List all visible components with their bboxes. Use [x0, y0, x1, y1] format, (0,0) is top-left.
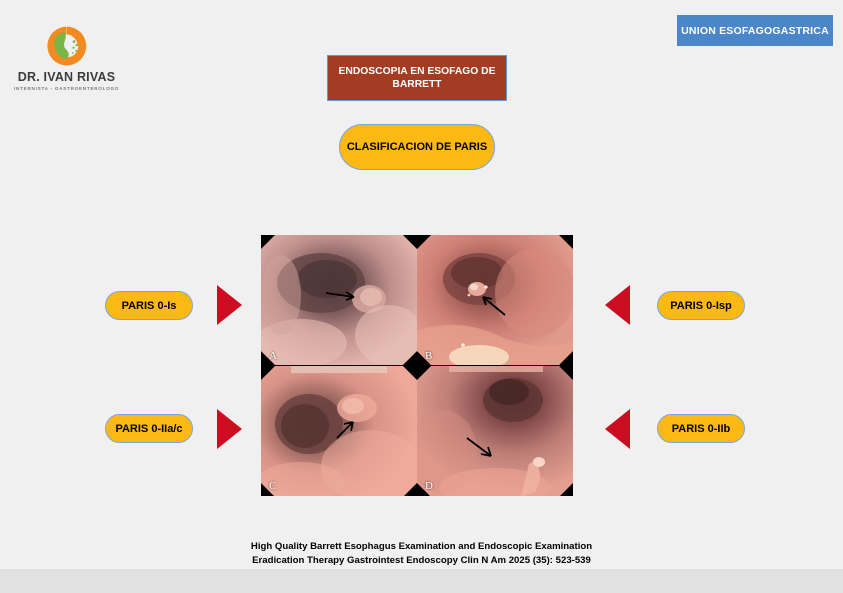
- arrow-right-icon-a: [217, 285, 242, 325]
- arrow-right-icon-c: [217, 409, 242, 449]
- caption-line-2: Eradication Therapy Gastrointest Endosco…: [180, 554, 663, 568]
- panel-letter-c: C: [269, 480, 276, 492]
- page-title: ENDOSCOPIA EN ESOFAGO DE BARRETT: [327, 55, 507, 101]
- paris-label-0-iib: PARIS 0-IIb: [657, 414, 745, 443]
- endoscopy-image-b: [417, 235, 573, 365]
- endoscopy-panel-c: C: [261, 366, 417, 497]
- paris-label-0-iiac: PARIS 0-IIa/c: [105, 414, 193, 443]
- paris-label-0-is: PARIS 0-Is: [105, 291, 193, 320]
- panel-letter-a: A: [269, 350, 277, 362]
- endoscopy-panel-a: A: [261, 235, 417, 366]
- clinic-logo: DR. IVAN RIVAS INTERNISTA - GASTROENTERO…: [14, 24, 119, 96]
- union-esofagogastrica-badge: UNION ESOFAGOGASTRICA: [677, 15, 833, 46]
- paris-label-0-isp: PARIS 0-Isp: [657, 291, 745, 320]
- endoscopy-figure-grid: A: [261, 235, 573, 496]
- panel-letter-d: D: [425, 480, 433, 492]
- clasificacion-de-paris-pill: CLASIFICACION DE PARIS: [339, 124, 495, 170]
- figure-caption: High Quality Barrett Esophagus Examinati…: [180, 540, 663, 568]
- arrow-left-icon-b: [605, 285, 630, 325]
- slide-canvas: DR. IVAN RIVAS INTERNISTA - GASTROENTERO…: [0, 0, 843, 569]
- endoscopy-panel-d: D: [417, 366, 573, 497]
- endoscopy-panel-b: B: [417, 235, 573, 366]
- logo-name: DR. IVAN RIVAS: [14, 70, 119, 84]
- logo-subtitle: INTERNISTA - GASTROENTEROLOGO: [14, 86, 119, 91]
- endoscopy-image-a: [261, 235, 417, 365]
- stomach-logo-icon: [45, 24, 89, 68]
- endoscopy-image-d: [417, 366, 573, 497]
- endoscopy-image-c: [261, 366, 417, 497]
- arrow-left-icon-d: [605, 409, 630, 449]
- caption-line-1: High Quality Barrett Esophagus Examinati…: [180, 540, 663, 554]
- panel-letter-b: B: [425, 350, 432, 362]
